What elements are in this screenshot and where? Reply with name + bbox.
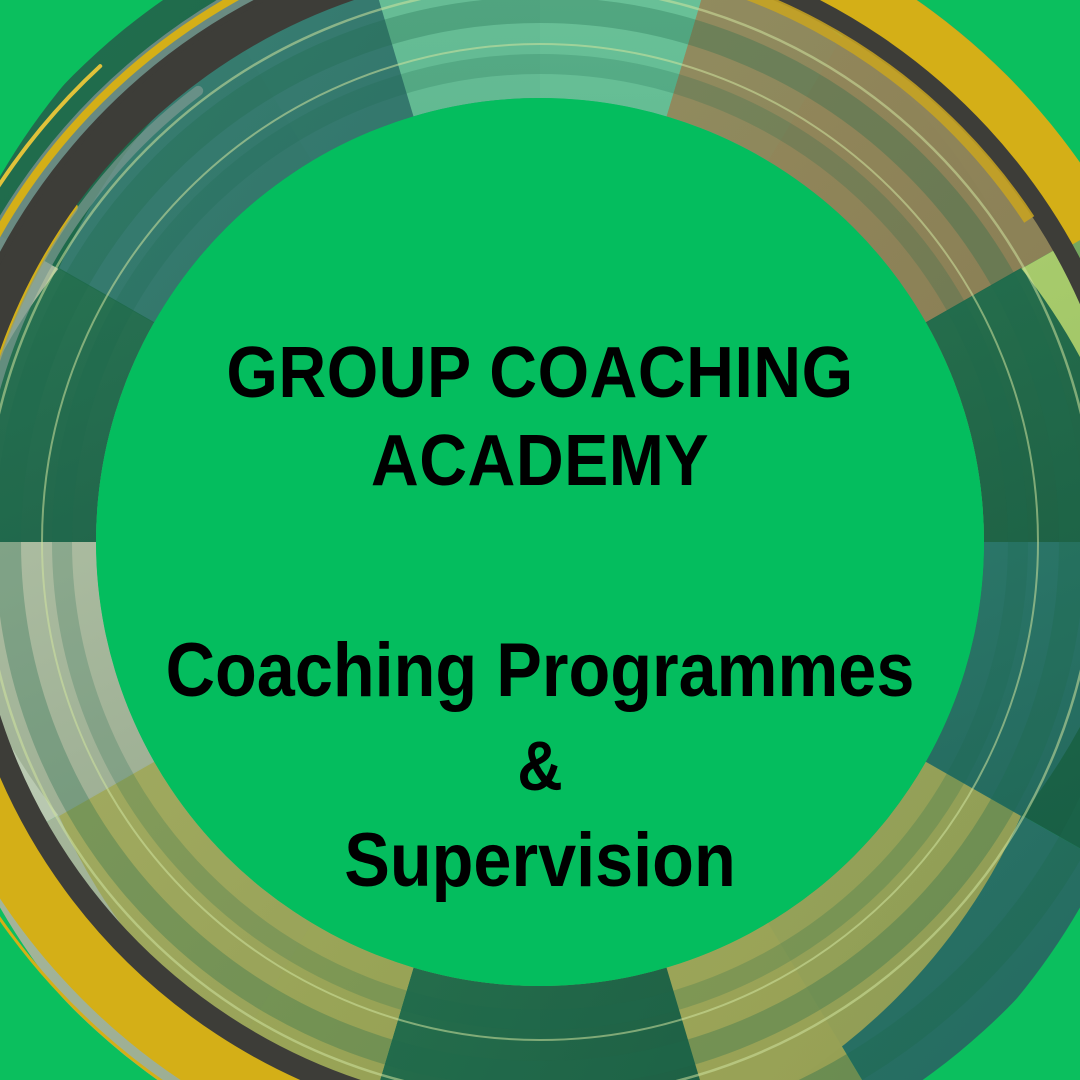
decorative-ring-artwork (0, 0, 1080, 1080)
poster-canvas: GROUP COACHING ACADEMY Coaching Programm… (0, 0, 1080, 1080)
center-circle (96, 98, 984, 986)
